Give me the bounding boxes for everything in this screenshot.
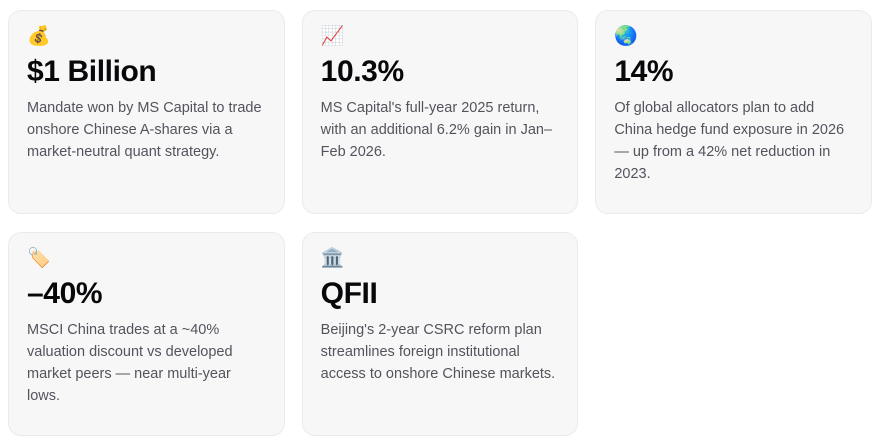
stat-card-1-mandate: 💰 $1 Billion Mandate won by MS Capital t… [8,10,285,214]
stat-card-2-return: 📈 10.3% MS Capital's full-year 2025 retu… [302,10,579,214]
stat-value: 14% [614,55,673,88]
stat-description: MSCI China trades at a ~40% valuation di… [27,319,266,407]
stat-value: 10.3% [321,55,404,88]
label-tag-icon: 🏷️ [27,249,51,271]
stat-card-4-valuation: 🏷️ –40% MSCI China trades at a ~40% valu… [8,232,285,436]
stat-card-grid: 💰 $1 Billion Mandate won by MS Capital t… [0,0,882,446]
stat-card-3-allocators: 🌏 14% Of global allocators plan to add C… [595,10,872,214]
stat-card-5-qfii: 🏛️ QFII Beijing's 2-year CSRC reform pla… [302,232,579,436]
stat-description: Of global allocators plan to add China h… [614,97,853,185]
stat-value: –40% [27,277,102,310]
money-bag-icon: 💰 [27,27,51,49]
stat-description: Mandate won by MS Capital to trade onsho… [27,97,266,163]
chart-increasing-icon: 📈 [321,27,345,49]
classical-building-icon: 🏛️ [321,249,345,271]
globe-asia-icon: 🌏 [614,27,638,49]
stat-value: QFII [321,277,378,310]
stat-value: $1 Billion [27,55,156,88]
stat-description: Beijing's 2-year CSRC reform plan stream… [321,319,560,385]
stat-description: MS Capital's full-year 2025 return, with… [321,97,560,163]
